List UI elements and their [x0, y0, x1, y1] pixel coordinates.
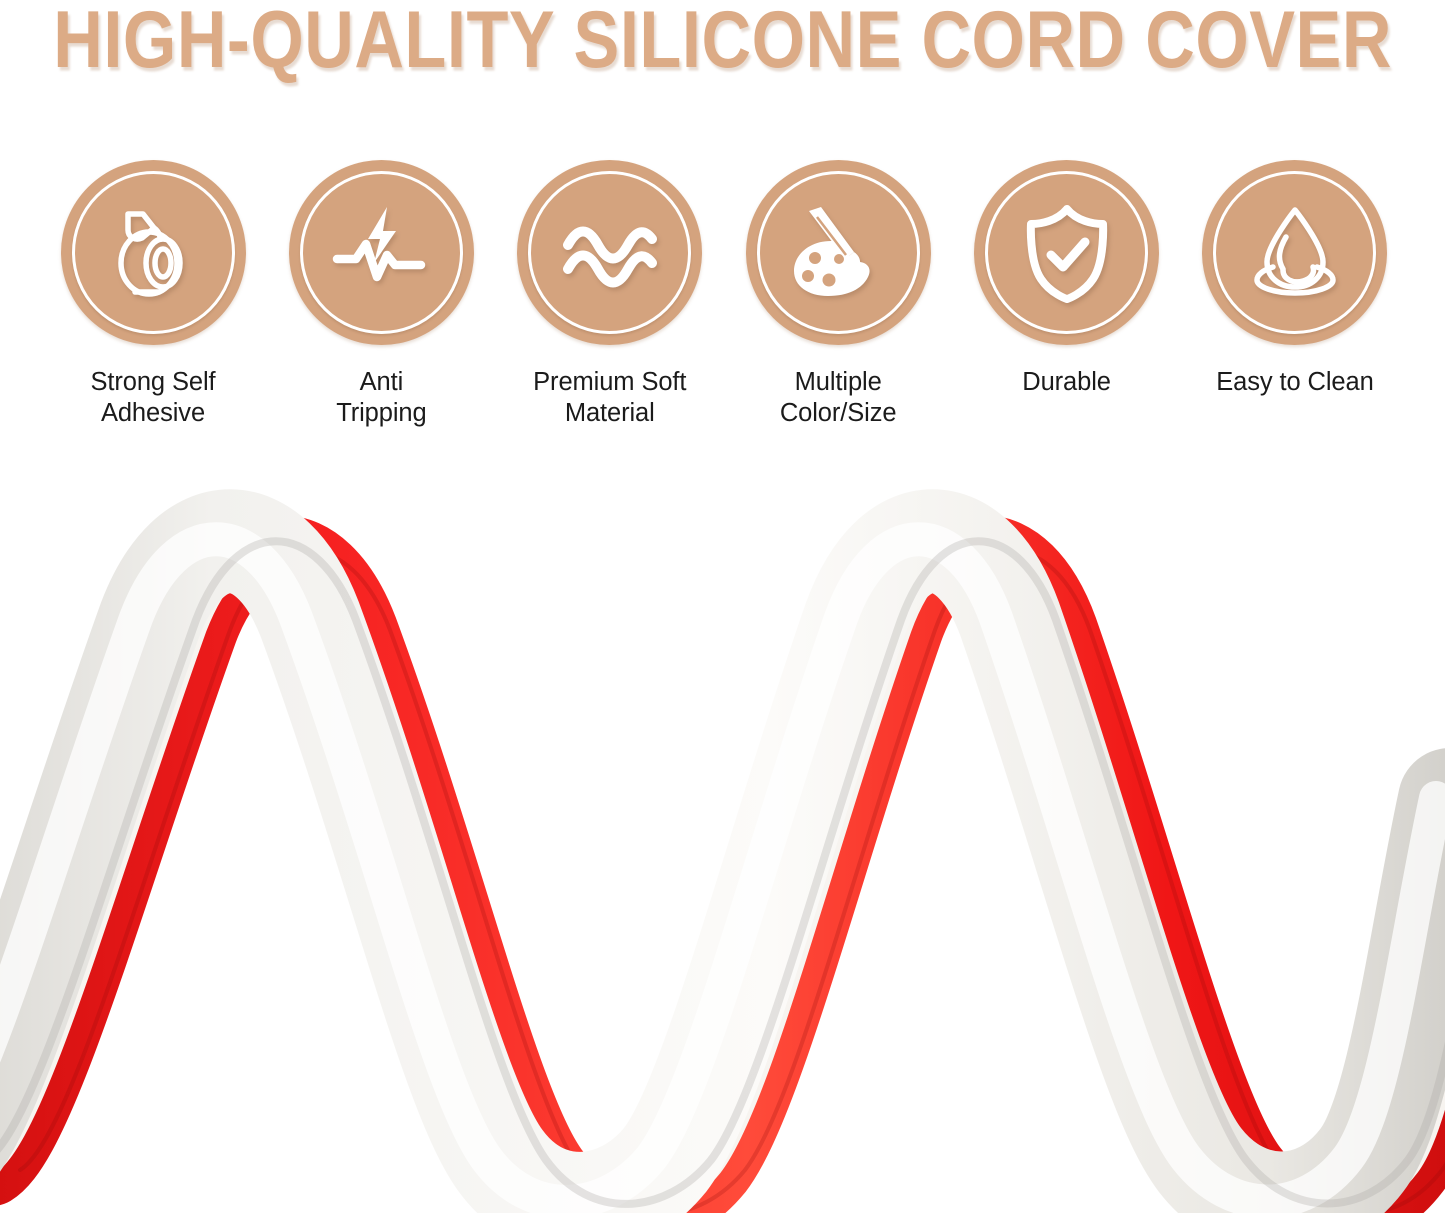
product-image [0, 470, 1445, 1213]
feature-list: Strong Self Adhesive Anti Tripping Premi… [58, 160, 1390, 429]
feature-label: Premium Soft Material [533, 367, 686, 429]
feature-badge [61, 160, 246, 345]
lightning-pulse-icon [325, 197, 437, 309]
feature-badge [974, 160, 1159, 345]
feature-badge [1202, 160, 1387, 345]
shield-check-icon [1011, 197, 1123, 309]
silicone-cord-cover-illustration [0, 470, 1445, 1213]
feature-badge [746, 160, 931, 345]
feature-label: Durable [1022, 367, 1111, 398]
feature-label: Easy to Clean [1216, 367, 1373, 398]
water-droplet-icon [1239, 197, 1351, 309]
adhesive-tape-roll-icon [97, 197, 209, 309]
feature-item-easy-to-clean[interactable]: Easy to Clean [1200, 160, 1390, 398]
feature-item-multiple-color-size[interactable]: Multiple Color/Size [743, 160, 933, 429]
feature-label: Anti Tripping [336, 367, 426, 429]
feature-item-strong-self-adhesive[interactable]: Strong Self Adhesive [58, 160, 248, 429]
paint-palette-icon [782, 197, 894, 309]
feature-label: Strong Self Adhesive [90, 367, 215, 429]
feature-label: Multiple Color/Size [780, 367, 897, 429]
feature-item-premium-soft-material[interactable]: Premium Soft Material [515, 160, 705, 429]
page-title: HIGH-QUALITY SILICONE CORD COVER [53, 0, 1392, 80]
wavy-lines-icon [554, 197, 666, 309]
header-banner: HIGH-QUALITY SILICONE CORD COVER [0, 0, 1445, 78]
feature-item-durable[interactable]: Durable [972, 160, 1162, 398]
feature-badge [517, 160, 702, 345]
feature-item-anti-tripping[interactable]: Anti Tripping [286, 160, 476, 429]
feature-badge [289, 160, 474, 345]
